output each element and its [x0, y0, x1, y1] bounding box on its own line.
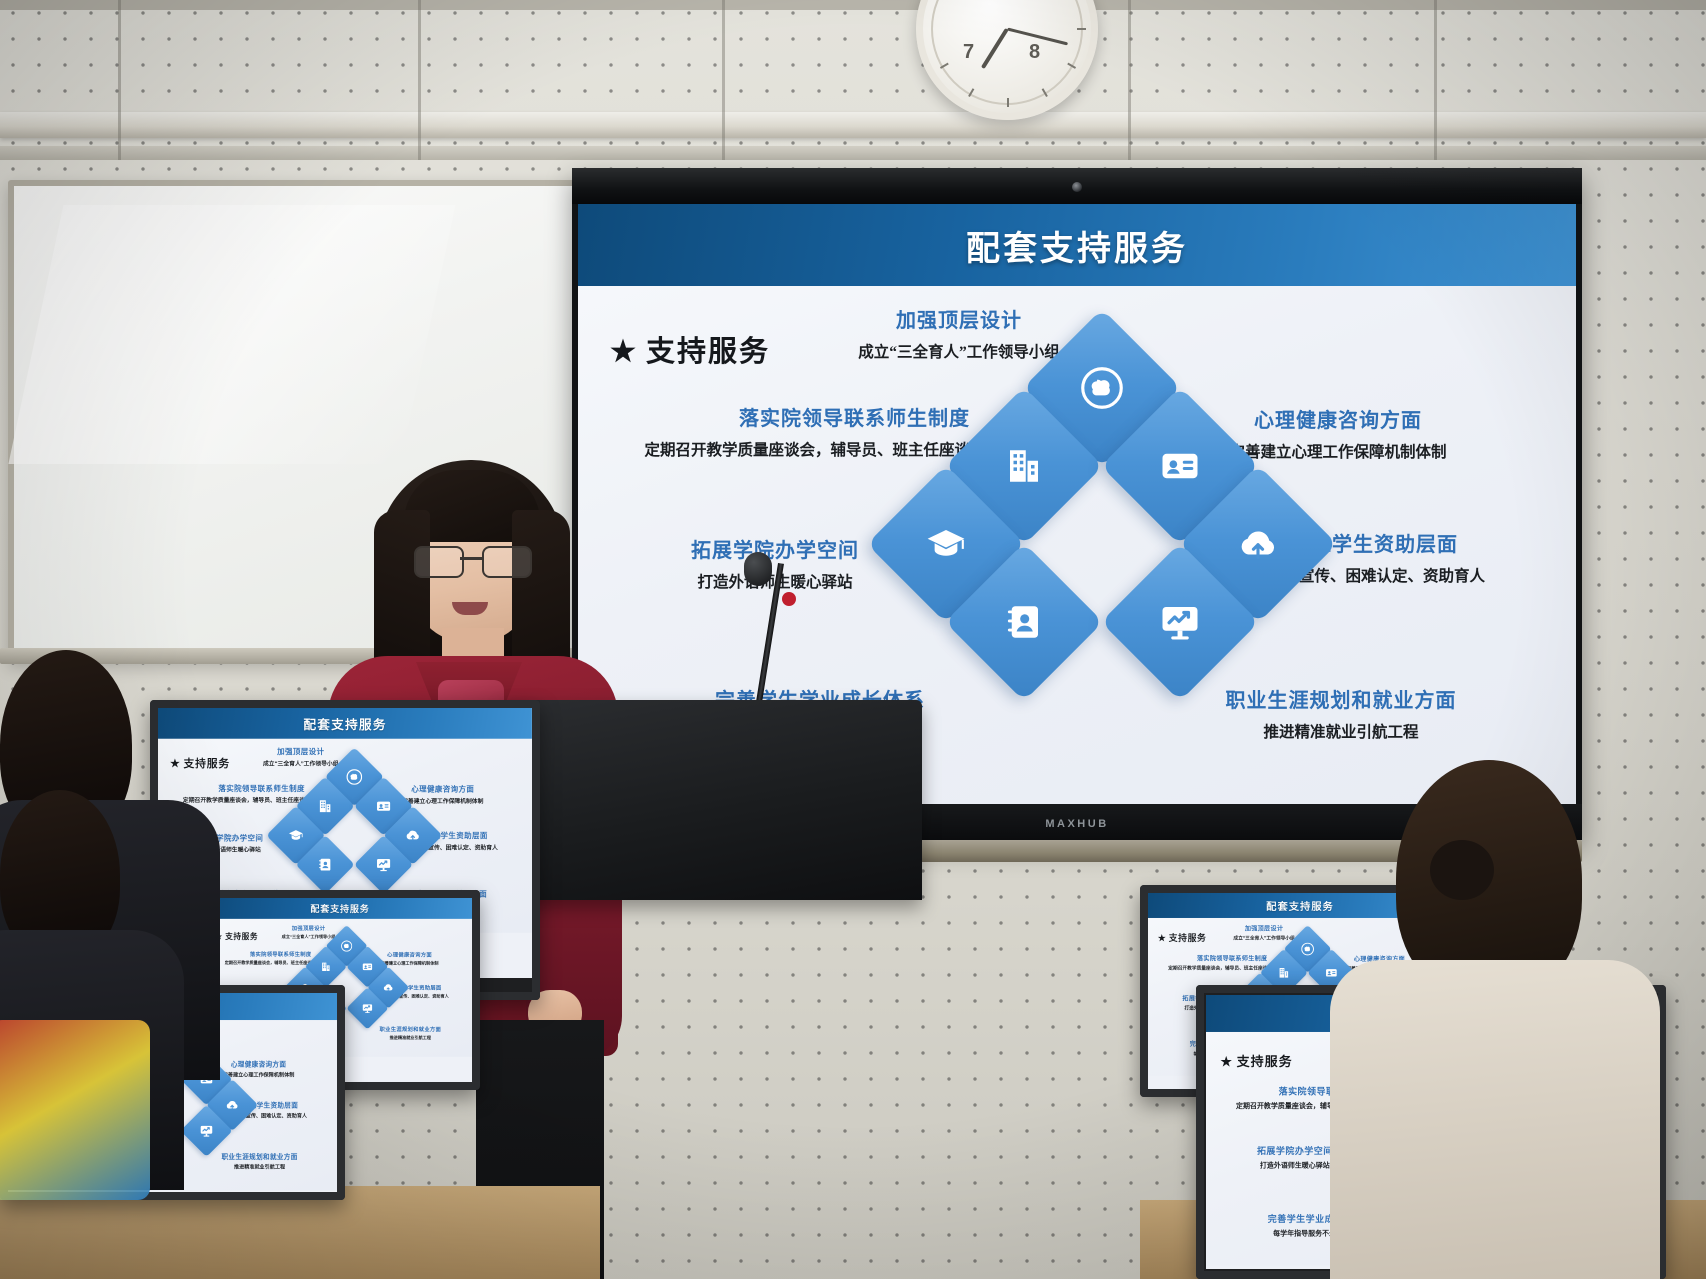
section-label-text: 支持服务: [646, 336, 770, 368]
whiteboard-glare: [9, 205, 456, 464]
monitor-chart-icon: [199, 1123, 215, 1139]
screenshot-root: 7 8 配套支持服务 ★支持服务 加强顶层设计 成立“三全育人”工作领导小组: [0, 0, 1706, 1279]
glasses-icon: [412, 546, 532, 576]
id-card-icon: [375, 797, 393, 815]
camera-icon: [1072, 182, 1082, 192]
student-hair-bun: [1430, 840, 1494, 900]
student-body-right: [1330, 960, 1660, 1279]
clock-number: 8: [1029, 41, 1040, 64]
microphone-indicator: [782, 592, 796, 606]
wall-seam: [1128, 0, 1131, 160]
monitor-chart-icon: [375, 856, 393, 874]
section-label-text: 支持服务: [1169, 933, 1207, 943]
star-icon: ★: [170, 757, 180, 769]
contact-book-icon: [1000, 598, 1048, 646]
block-detail: 定期召开教学质量座谈会，辅导员、班主任座谈会: [1167, 965, 1268, 979]
slide-header: 配套支持服务: [578, 204, 1576, 286]
glasses-bridge: [460, 557, 482, 560]
wall-rail-lower: [0, 146, 1706, 160]
monitor-chart-icon: [1156, 598, 1204, 646]
block-heading: 落实院领导联系师生制度: [181, 784, 305, 794]
glasses-lens-right: [482, 546, 532, 578]
brain-head-icon: [1300, 942, 1315, 957]
slide-title: 配套支持服务: [1266, 898, 1334, 913]
slide-header: 配套支持服务: [158, 708, 532, 739]
brain-head-icon: [1078, 364, 1126, 412]
cloud-upload-icon: [382, 981, 395, 994]
slide-block-left-1: 落实院领导联系师生制度 定期召开教学质量座谈会，辅导员、班主任座谈会: [181, 784, 305, 814]
wall-seam: [1434, 0, 1437, 160]
slide-section-label: ★支持服务: [216, 930, 259, 941]
slide-title: 配套支持服务: [966, 221, 1188, 270]
building-icon: [1000, 442, 1048, 490]
glasses-lens-left: [414, 546, 464, 578]
slide-section-label: ★支持服务: [170, 754, 230, 770]
slide-block-left-1: 落实院领导联系师生制度 定期召开教学质量座谈会，辅导员、班主任座谈会: [224, 951, 312, 972]
building-icon: [319, 960, 332, 973]
star-icon: ★: [1220, 1055, 1233, 1069]
slide-header: 配套支持服务: [207, 897, 473, 919]
wall-seam: [118, 0, 121, 160]
slide-title: 配套支持服务: [310, 901, 369, 914]
cloud-upload-icon: [1234, 520, 1282, 568]
slide-block-left-1: 落实院领导联系师生制度 定期召开教学质量座谈会，辅导员、班主任座谈会: [1167, 955, 1268, 979]
slide-section-label: ★支持服务: [610, 328, 770, 370]
slide-block-left-1: 落实院领导联系师生制度 定期召开教学质量座谈会，辅导员、班主任座谈会: [640, 406, 970, 486]
cloud-upload-icon: [404, 826, 422, 844]
wall-top-trim: [0, 0, 1706, 10]
wall-seam: [418, 0, 421, 160]
slide-title: 配套支持服务: [303, 714, 386, 732]
star-icon: ★: [1158, 933, 1167, 943]
display-top-bezel: [572, 168, 1582, 204]
id-card-icon: [1324, 965, 1339, 980]
wall-seam: [722, 0, 725, 160]
brain-head-icon: [345, 768, 363, 786]
monitor-chart-icon: [361, 1002, 374, 1015]
colorful-object-foreground: [0, 1020, 150, 1200]
section-label-text: 支持服务: [1237, 1055, 1293, 1069]
brain-head-icon: [340, 940, 353, 953]
block-detail: 定期召开教学质量座谈会，辅导员、班主任座谈会: [640, 439, 970, 486]
block-heading: 落实院领导联系师生制度: [640, 406, 970, 432]
building-icon: [316, 797, 334, 815]
contact-book-icon: [316, 856, 334, 874]
microphone-icon: [744, 552, 772, 586]
podium: [502, 700, 922, 900]
block-heading: 落实院领导联系师生制度: [224, 951, 312, 958]
graduation-cap-icon: [287, 826, 305, 844]
section-label-text: 支持服务: [183, 757, 229, 769]
clock-tick: [1077, 28, 1086, 30]
clock-tick: [1007, 98, 1009, 107]
slide-section-label: ★支持服务: [1158, 931, 1207, 944]
section-label-text: 支持服务: [225, 932, 258, 941]
block-detail: 定期召开教学质量座谈会，辅导员、班主任座谈会: [224, 960, 312, 972]
graduation-cap-icon: [922, 520, 970, 568]
clock-ring: [931, 0, 1083, 105]
id-card-icon: [1156, 442, 1204, 490]
block-heading: 落实院领导联系师生制度: [1167, 955, 1268, 963]
wall-rail-upper: [0, 112, 1706, 138]
diamond-cluster: [938, 326, 1268, 756]
clock-number: 7: [963, 41, 974, 64]
id-card-icon: [361, 960, 374, 973]
cloud-upload-icon: [224, 1097, 240, 1113]
building-icon: [1277, 965, 1292, 980]
maxhub-logo: MAXHUB: [1045, 818, 1108, 830]
slide-section-label: ★支持服务: [1220, 1051, 1292, 1070]
star-icon: ★: [610, 336, 638, 368]
